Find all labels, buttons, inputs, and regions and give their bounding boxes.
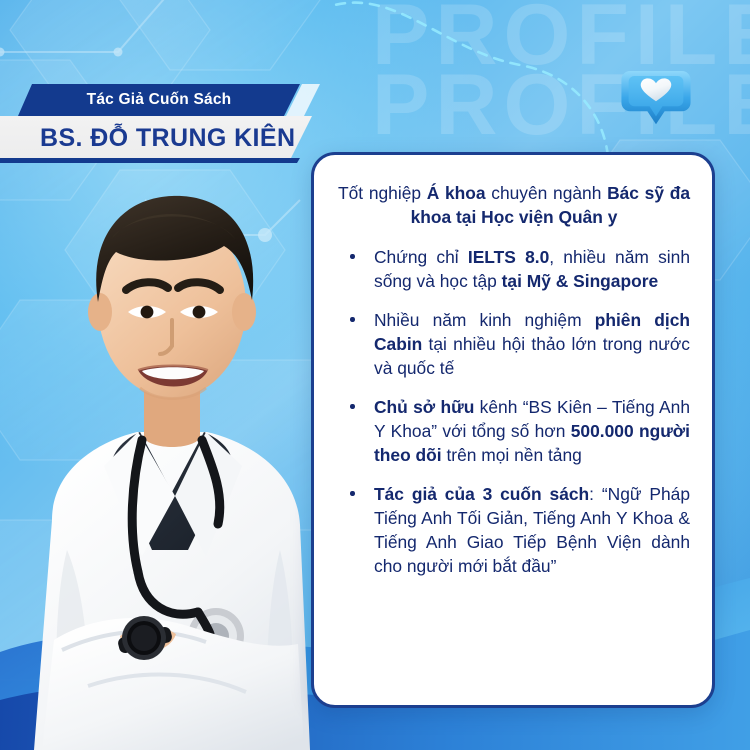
text-run-bold: Á khoa: [427, 183, 486, 203]
text-run-bold: Tác giả của 3 cuốn sách: [374, 484, 589, 504]
bullet-dot-icon: [350, 491, 355, 496]
text-run: Nhiều năm kinh nghiệm: [374, 310, 595, 330]
text-run: chuyên ngành: [486, 183, 608, 203]
text-run-bold: tại Mỹ & Singapore: [502, 271, 659, 291]
text-run: tại nhiều hội thảo lớn trong nước và quố…: [374, 334, 690, 378]
achievement-item: Nhiều năm kinh nghiệm phiên dịch Cabin t…: [338, 308, 690, 380]
text-run-bold: Chủ sở hữu: [374, 397, 474, 417]
bullet-dot-icon: [350, 404, 355, 409]
card-intro-paragraph: Tốt nghiệp Á khoa chuyên ngành Bác sỹ đa…: [338, 181, 690, 229]
ribbon-label: Tác Giả Cuốn Sách: [87, 91, 232, 109]
bullet-dot-icon: [350, 317, 355, 322]
profile-card-stage: PROFILE PROFILE Tác Giả Cuốn Sách BS. ĐỖ: [0, 0, 750, 750]
watermark-text-top: PROFILE: [372, 0, 750, 85]
profile-info-card: Tốt nghiệp Á khoa chuyên ngành Bác sỹ đa…: [311, 152, 715, 708]
text-run: Tốt nghiệp: [338, 183, 427, 203]
heart-chat-bubble-icon[interactable]: [620, 58, 692, 130]
watermark-text-bottom: PROFILE: [372, 56, 750, 155]
text-run: Chứng chỉ: [374, 247, 468, 267]
achievement-item: Chủ sở hữu kênh “BS Kiên – Tiếng Anh Y K…: [338, 395, 690, 467]
achievement-item: Chứng chỉ IELTS 8.0, nhiều năm sinh sống…: [338, 245, 690, 293]
doctor-portrait: [0, 120, 352, 750]
bullet-dot-icon: [350, 254, 355, 259]
text-run-bold: IELTS 8.0: [468, 247, 549, 267]
text-run: trên mọi nền tảng: [442, 445, 582, 465]
achievement-list: Chứng chỉ IELTS 8.0, nhiều năm sinh sống…: [338, 245, 690, 578]
ribbon-banner: Tác Giả Cuốn Sách: [18, 84, 300, 116]
achievement-item: Tác giả của 3 cuốn sách: “Ngữ Pháp Tiếng…: [338, 482, 690, 578]
